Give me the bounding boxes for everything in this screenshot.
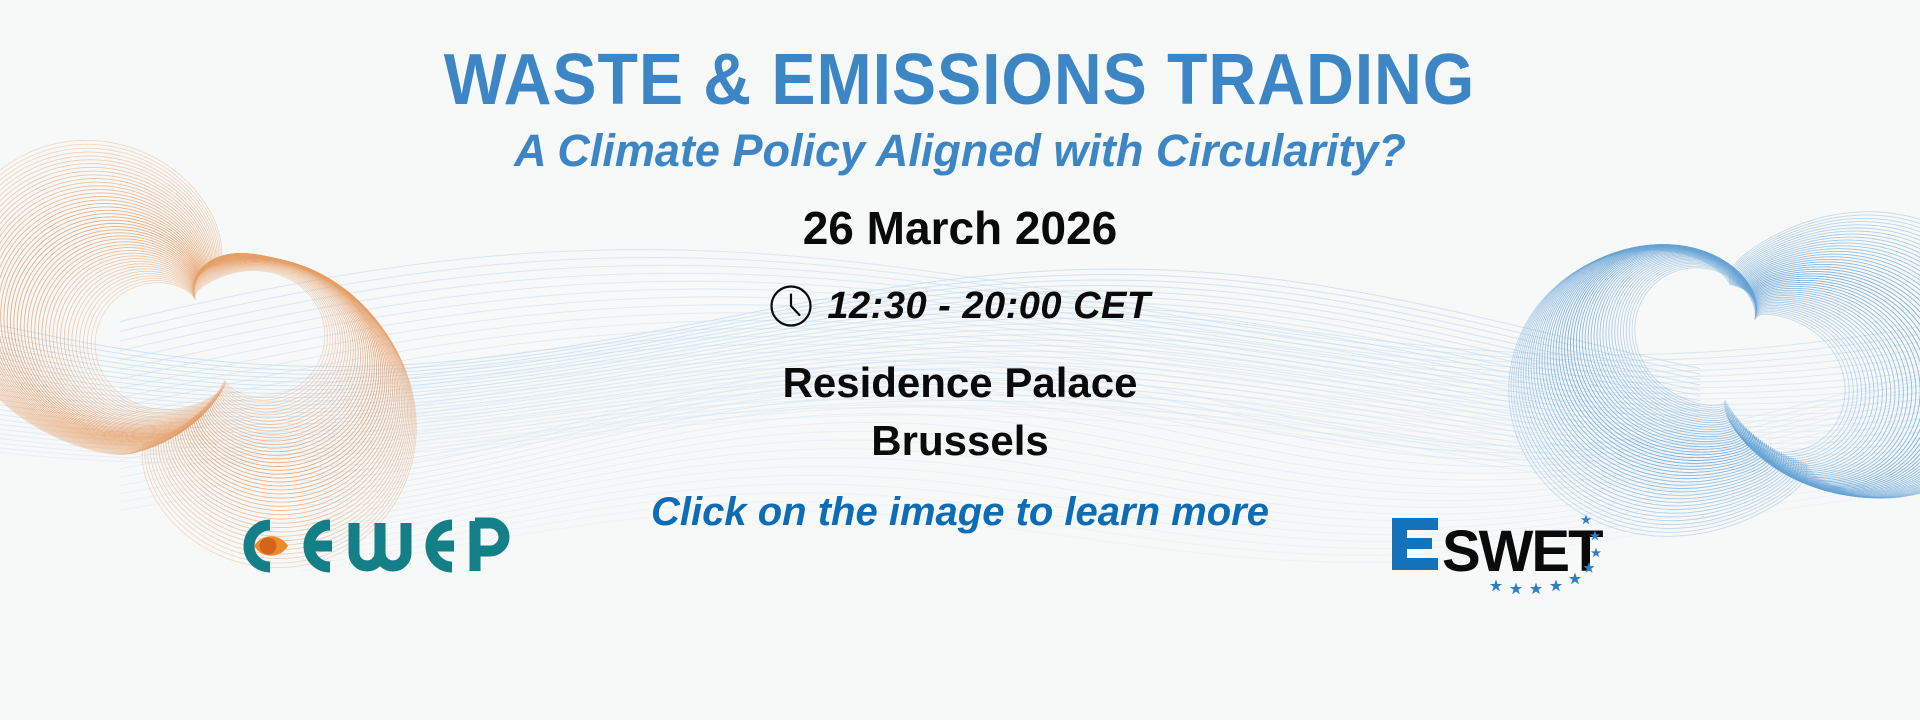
- subtitle-row: A Climate Policy Aligned with Circularit…: [0, 128, 1920, 173]
- venue-row: Residence Palace: [0, 362, 1920, 404]
- cta-label[interactable]: Click on the image to learn more: [651, 492, 1269, 532]
- time-group: 12:30 - 20:00 CET: [769, 284, 1150, 328]
- title-row: WASTE & EMISSIONS TRADING: [0, 44, 1920, 116]
- venue-name: Residence Palace: [783, 362, 1138, 404]
- time-row: 12:30 - 20:00 CET: [0, 284, 1920, 332]
- city-row: Brussels: [0, 420, 1920, 462]
- cewep-letter-w-right: [380, 523, 406, 566]
- cewep-leaf-core-icon: [260, 538, 277, 555]
- event-time: 12:30 - 20:00 CET: [827, 287, 1150, 325]
- date-row: 26 March 2026: [0, 205, 1920, 251]
- clock-icon: [769, 284, 813, 328]
- eswet-letters-swet: SWET: [1442, 519, 1603, 584]
- eswet-logo[interactable]: SWET: [1390, 510, 1610, 598]
- event-date: 26 March 2026: [803, 205, 1118, 251]
- eswet-letter-e: [1392, 518, 1438, 570]
- page-title: WASTE & EMISSIONS TRADING: [444, 44, 1475, 116]
- page-subtitle: A Climate Policy Aligned with Circularit…: [514, 128, 1406, 173]
- venue-city: Brussels: [871, 420, 1048, 462]
- event-banner[interactable]: WASTE & EMISSIONS TRADING A Climate Poli…: [0, 0, 1920, 720]
- cewep-logo[interactable]: [232, 515, 512, 577]
- banner-content: WASTE & EMISSIONS TRADING A Climate Poli…: [0, 0, 1920, 720]
